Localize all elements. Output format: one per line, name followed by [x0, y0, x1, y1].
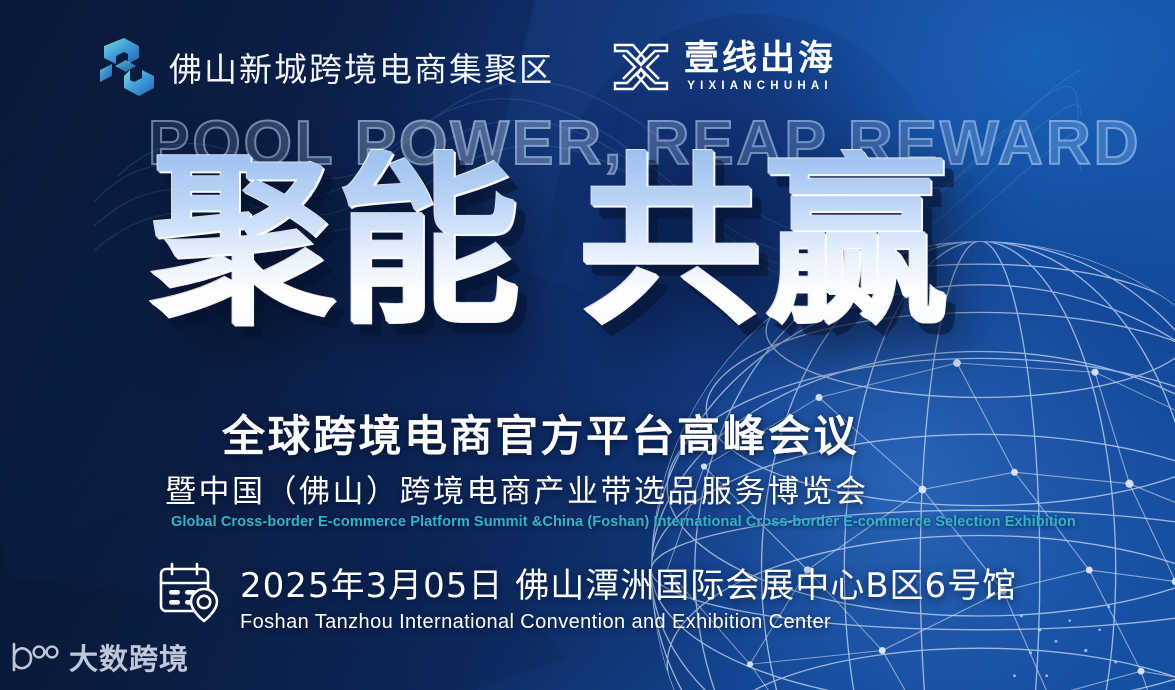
- secondary-logo[interactable]: 壹线出海 YIXIANCHUHAI: [611, 39, 836, 95]
- primary-logo-label: 佛山新城跨境电商集聚区: [169, 43, 554, 91]
- main-headline: 聚能 共赢: [150, 150, 950, 334]
- conference-banner: 佛山新城跨境电商集聚区 壹线出海 YIXIANCHUHAI POOL POWER…: [0, 0, 1175, 690]
- watermark[interactable]: 大数跨境: [8, 636, 189, 678]
- headline-word-two: 共赢: [578, 150, 950, 334]
- primary-logo[interactable]: 佛山新城跨境电商集聚区: [98, 36, 554, 98]
- location-pin-icon: [191, 589, 217, 621]
- x-chevron-logo-icon: [611, 39, 671, 95]
- secondary-logo-label-cn: 壹线出海: [684, 42, 836, 78]
- logo-bar: 佛山新城跨境电商集聚区 壹线出海 YIXIANCHUHAI: [98, 36, 836, 98]
- subtitle-line-1: 全球跨境电商官方平台高峰会议: [222, 402, 859, 464]
- dashu-logo-icon: [8, 640, 60, 674]
- subtitle-english: Global Cross-border E-commerce Platform …: [171, 514, 1076, 530]
- headline-word-one: 聚能: [150, 150, 522, 334]
- venue-date-line: 2025年3月05日 佛山潭洲国际会展中心B区6号馆: [240, 558, 1017, 607]
- venue-block: 2025年3月05日 佛山潭洲国际会展中心B区6号馆 Foshan Tanzho…: [158, 558, 1017, 634]
- subtitle-line-2: 暨中国（佛山）跨境电商产业带选品服务博览会: [165, 466, 869, 511]
- venue-english-line: Foshan Tanzhou International Convention …: [240, 611, 1017, 634]
- calendar-location-icon: [158, 561, 222, 623]
- watermark-label: 大数跨境: [69, 636, 189, 678]
- secondary-logo-label-en: YIXIANCHUHAI: [684, 80, 836, 92]
- hexagon-s-logo-icon: [98, 36, 156, 98]
